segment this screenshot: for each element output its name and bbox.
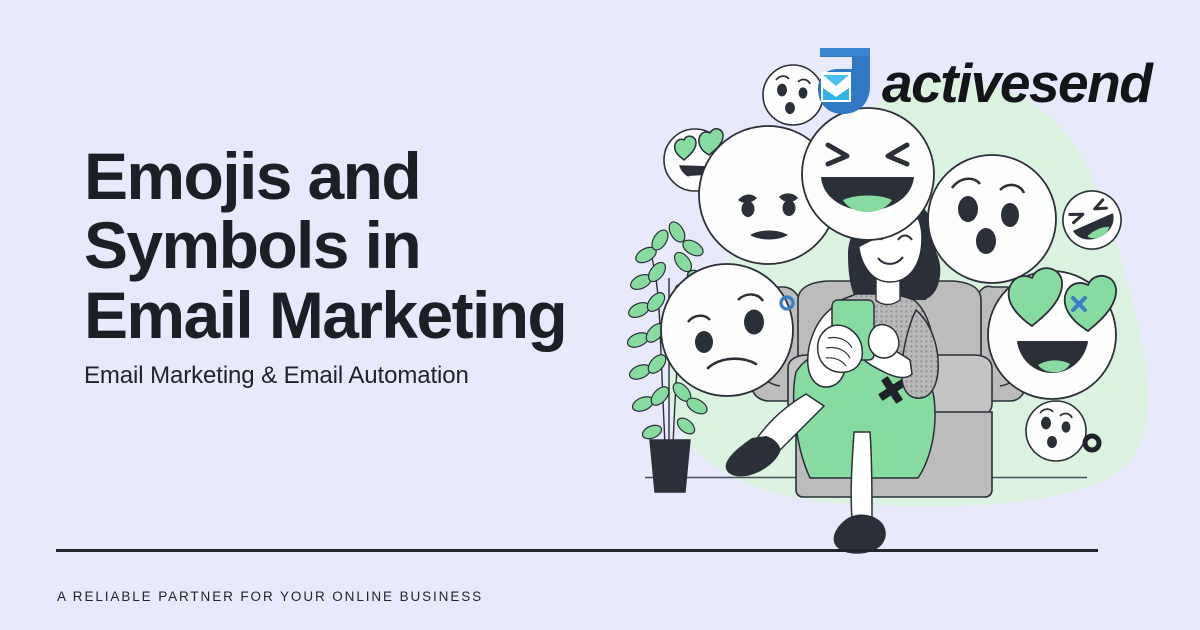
emoji-surprised-small-bottom [1026, 401, 1086, 461]
brand-wordmark: activesend [882, 56, 1151, 111]
footer-tagline: A RELIABLE PARTNER FOR YOUR ONLINE BUSIN… [57, 589, 483, 604]
footer-divider [56, 549, 1098, 552]
brand-logo[interactable]: activesend [812, 44, 1151, 123]
envelope-shield-logo-icon [812, 44, 878, 123]
page-subtitle: Email Marketing & Email Automation [84, 362, 469, 390]
emoji-surprised-large [928, 155, 1056, 283]
social-card-banner: Emojis and Symbols in Email Marketing Em… [0, 0, 1200, 630]
emoji-laughing-large [802, 108, 934, 240]
page-title: Emojis and Symbols in Email Marketing [84, 142, 644, 350]
emoji-confused [661, 264, 793, 396]
plant-pot [650, 440, 690, 492]
